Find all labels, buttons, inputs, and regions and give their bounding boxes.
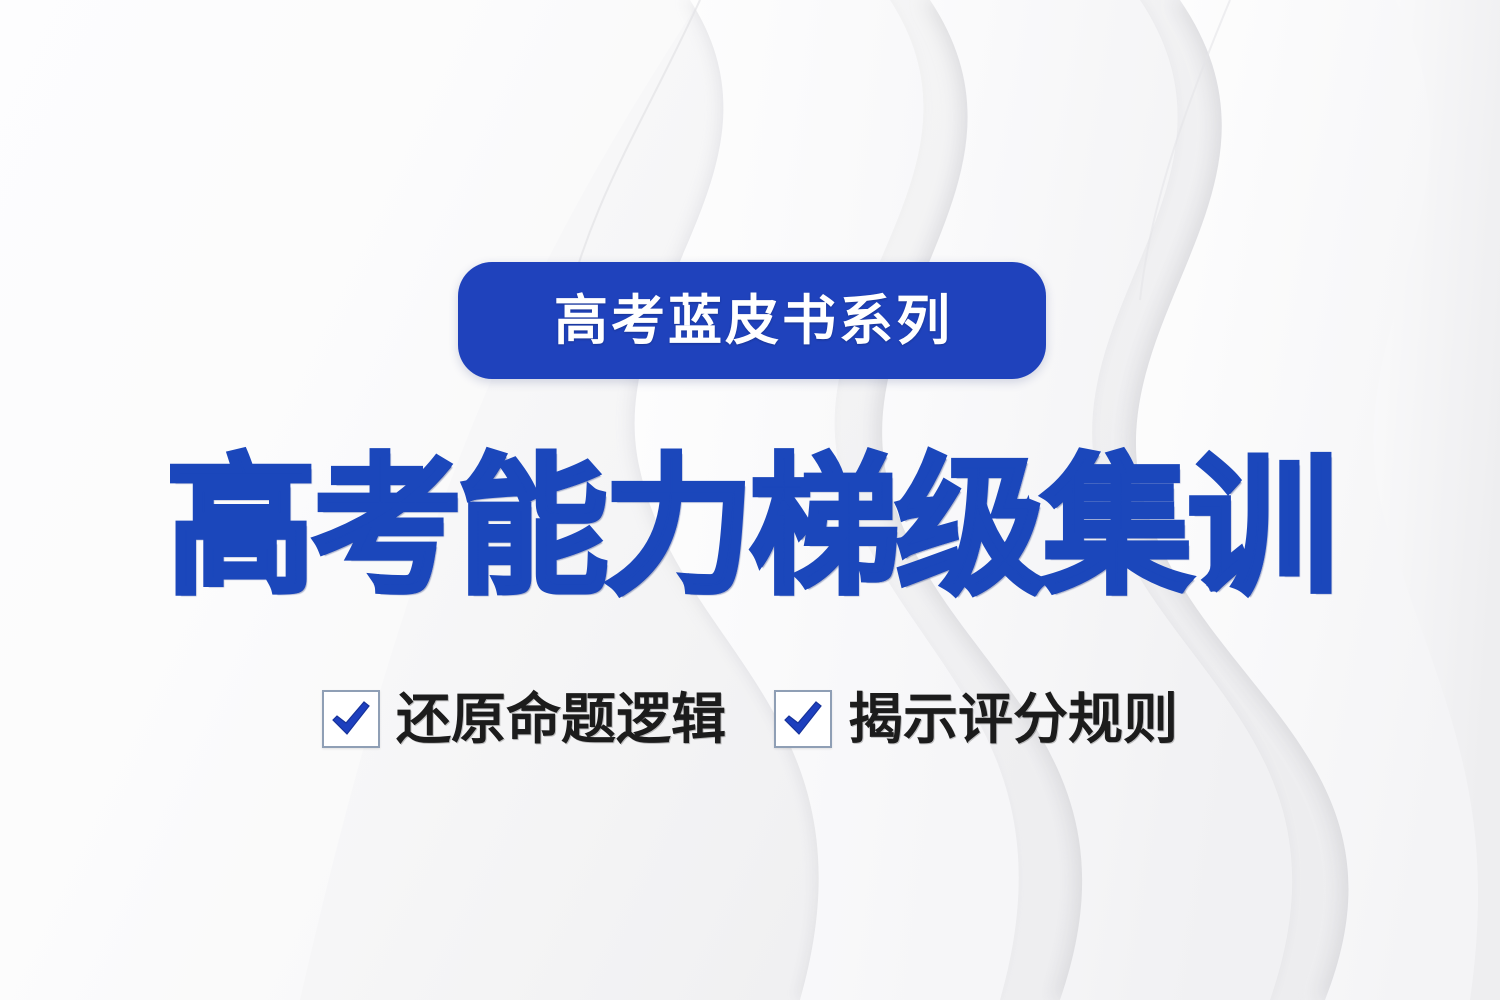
feature-label: 揭示评分规则 xyxy=(848,692,1178,747)
series-badge-label: 高考蓝皮书系列 xyxy=(551,294,953,348)
feature-label: 还原命题逻辑 xyxy=(396,692,726,747)
checkbox-frame[interactable] xyxy=(774,690,832,748)
checkbox-frame[interactable] xyxy=(322,690,380,748)
promo-poster: 高考蓝皮书系列 高考能力梯级集训 还原命题逻辑 揭示评分规则 xyxy=(0,0,1500,1000)
headline: 高考能力梯级集训 xyxy=(0,452,1500,602)
series-badge[interactable]: 高考蓝皮书系列 xyxy=(458,262,1046,379)
wave-crease-line-2 xyxy=(1140,0,1230,300)
feature-list: 还原命题逻辑 揭示评分规则 xyxy=(0,690,1500,748)
feature-item[interactable]: 揭示评分规则 xyxy=(774,690,1178,748)
headline-title: 高考能力梯级集训 xyxy=(166,452,1334,602)
feature-item[interactable]: 还原命题逻辑 xyxy=(322,690,726,748)
checkmark-icon xyxy=(328,696,374,742)
checkmark-icon xyxy=(780,696,826,742)
